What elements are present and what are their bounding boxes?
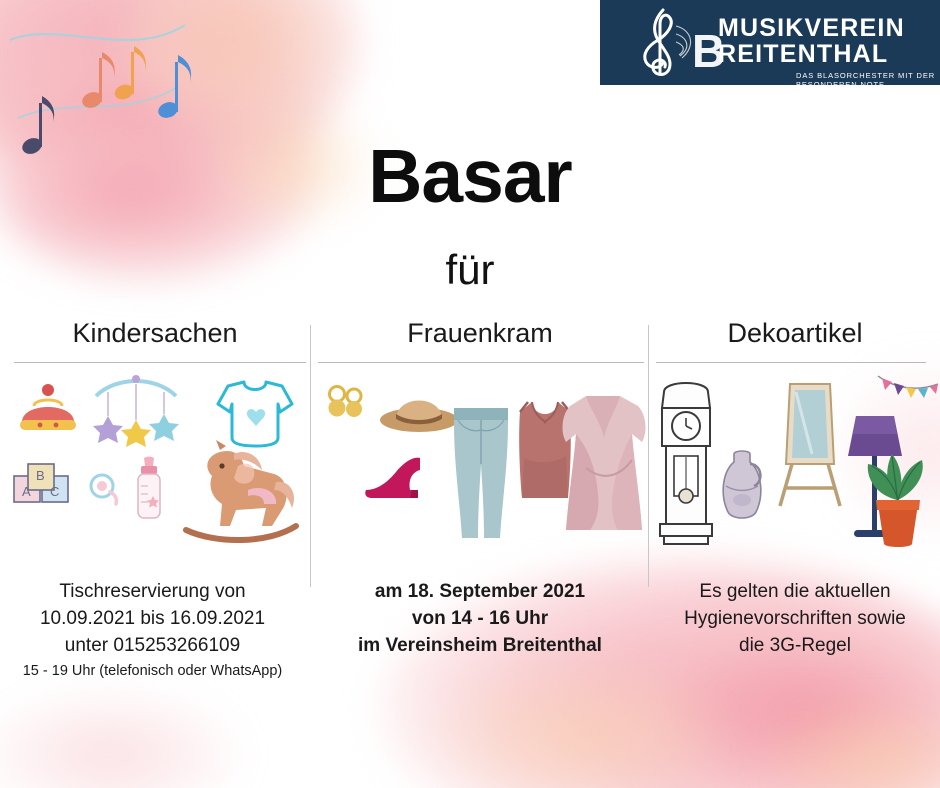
- earrings-icon: [326, 382, 366, 426]
- treble-clef-icon: [630, 6, 700, 80]
- watercolor-blob: [0, 690, 240, 788]
- footer-event-details: am 18. September 2021 von 14 - 16 Uhr im…: [315, 578, 645, 659]
- divider-rule: [656, 362, 926, 363]
- footer-line: Hygienevorschriften sowie: [650, 605, 940, 632]
- high-heel-icon: [362, 450, 426, 506]
- jeans-icon: [444, 404, 518, 544]
- crib-mobile-icon: [88, 374, 184, 460]
- footer-line: am 18. September 2021: [315, 578, 645, 605]
- footer-kindersachen: Tischreservierung von 10.09.2021 bis 16.…: [0, 578, 305, 683]
- potted-plant-icon: [856, 440, 940, 550]
- svg-text:C: C: [50, 484, 59, 499]
- footer-line: 10.09.2021 bis 16.09.2021: [0, 605, 305, 632]
- category-headings: Kindersachen Frauenkram Dekoartikel: [0, 318, 940, 363]
- divider-rule: [318, 362, 644, 363]
- logo-line-2: REITENTHAL: [718, 41, 940, 67]
- bunting-flags-icon: [876, 370, 940, 414]
- column-title-kindersachen: Kindersachen: [0, 318, 310, 349]
- footer-line: die 3G-Regel: [650, 632, 940, 659]
- poster-canvas: B MUSIKVEREIN REITENTHAL DAS BLASORCHEST…: [0, 0, 940, 788]
- svg-text:A: A: [22, 484, 31, 499]
- footer-note-hours: 15 - 19 Uhr (telefonisch oder WhatsApp): [0, 659, 305, 683]
- vase-jug-icon: [718, 450, 766, 524]
- footer-line: Es gelten die aktuellen: [650, 578, 940, 605]
- footer-line: unter 015253266109: [0, 632, 305, 659]
- footer-line: im Vereinsheim Breitenthal: [315, 632, 645, 659]
- footer-hygiene-rules: Es gelten die aktuellen Hygienevorschrif…: [650, 578, 940, 659]
- illustration-area: ACB: [0, 368, 940, 568]
- standing-mirror-icon: [772, 376, 848, 512]
- svg-text:B: B: [36, 468, 45, 483]
- logo-tagline: DAS BLASORCHESTER MIT DER BESONDEREN NOT…: [796, 71, 940, 85]
- logo-wordmark: MUSIKVEREIN REITENTHAL DAS BLASORCHESTER…: [718, 16, 940, 85]
- watercolor-blob: [760, 700, 940, 788]
- divider-rule: [14, 362, 306, 363]
- rocking-horse-icon: [176, 438, 304, 544]
- page-title: Basar: [0, 133, 940, 219]
- column-title-frauenkram: Frauenkram: [315, 318, 645, 349]
- watercolor-blob: [430, 660, 730, 788]
- footer-line: von 14 - 16 Uhr: [315, 605, 645, 632]
- logo-line-1: MUSIKVEREIN: [718, 16, 940, 41]
- footer-line: Tischreservierung von: [0, 578, 305, 605]
- baby-hat-icon: [12, 382, 84, 440]
- baby-blocks-icon: ACB: [10, 458, 86, 516]
- column-title-dekoartikel: Dekoartikel: [650, 318, 940, 349]
- pacifier-icon: [84, 468, 124, 508]
- wrap-dress-icon: [556, 390, 652, 540]
- baby-bottle-icon: [128, 456, 170, 522]
- musikverein-logo: B MUSIKVEREIN REITENTHAL DAS BLASORCHEST…: [600, 0, 940, 85]
- page-subtitle: für: [0, 246, 940, 294]
- grandfather-clock-icon: [656, 374, 716, 550]
